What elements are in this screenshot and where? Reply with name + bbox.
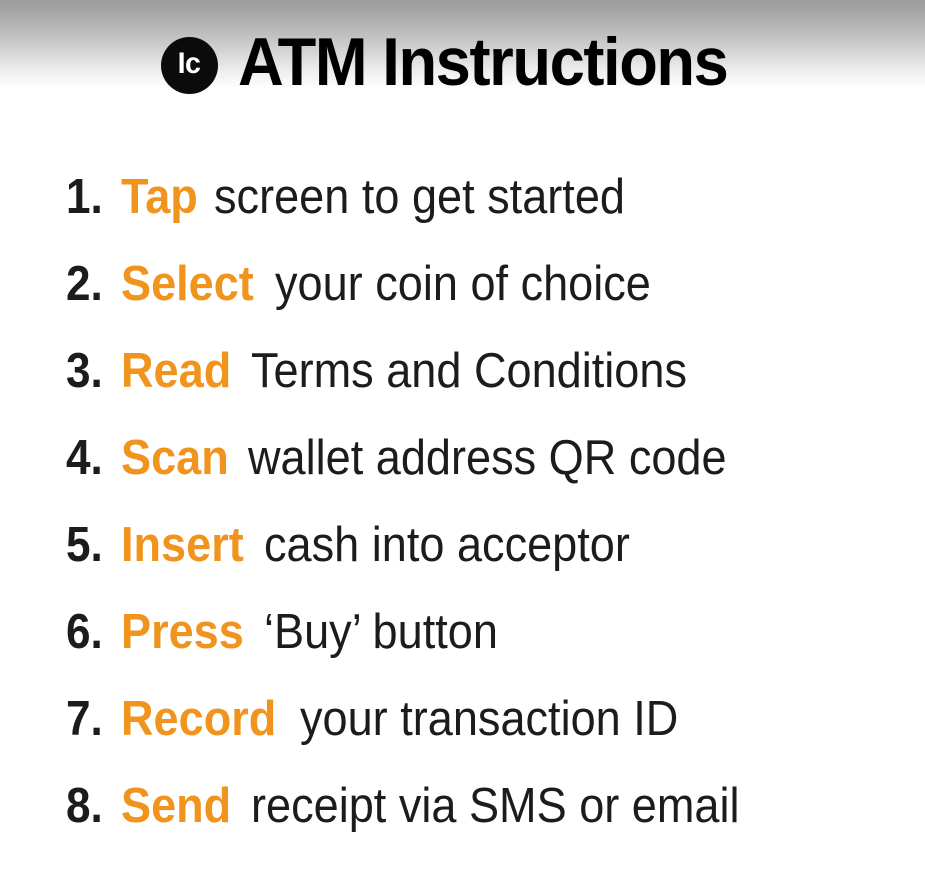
step-action: Send [121, 782, 231, 831]
step-number: 3. [66, 347, 103, 396]
step-number: 5. [66, 521, 103, 570]
list-item: 4. Scan wallet address QR code [66, 415, 906, 502]
ic-circle-logo-icon: Ic [161, 37, 218, 94]
list-item: 8. Send receipt via SMS or email [66, 763, 906, 850]
step-number: 7. [66, 695, 103, 744]
header-inner: Ic ATM Instructions [161, 0, 764, 142]
step-text: ‘Buy’ button [264, 608, 498, 657]
list-item: 5. Insert cash into acceptor [66, 502, 906, 589]
list-item: 6. Press ‘Buy’ button [66, 589, 906, 676]
step-action: Select [121, 260, 254, 309]
list-item: 7. Record your transaction ID [66, 676, 906, 763]
step-action: Press [121, 608, 244, 657]
step-number: 4. [66, 434, 103, 483]
page-title: ATM Instructions [238, 28, 727, 96]
step-text: wallet address QR code [248, 434, 727, 483]
step-action: Tap [121, 173, 198, 222]
step-number: 6. [66, 608, 103, 657]
step-action: Record [121, 695, 276, 744]
instructions-list: 1. Tap screen to get started 2. Select y… [66, 154, 906, 850]
step-text: screen to get started [214, 173, 625, 222]
step-number: 1. [66, 173, 103, 222]
list-item: 1. Tap screen to get started [66, 154, 906, 241]
step-text: your coin of choice [275, 260, 651, 309]
step-text: cash into acceptor [264, 521, 630, 570]
step-action: Read [121, 347, 231, 396]
list-item: 3. Read Terms and Conditions [66, 328, 906, 415]
step-action: Insert [121, 521, 244, 570]
step-text: your transaction ID [300, 695, 678, 744]
step-number: 8. [66, 782, 103, 831]
list-item: 2. Select your coin of choice [66, 241, 906, 328]
page-header: Ic ATM Instructions [0, 0, 925, 120]
step-number: 2. [66, 260, 103, 309]
step-text: receipt via SMS or email [251, 782, 740, 831]
step-text: Terms and Conditions [251, 347, 687, 396]
logo-label: Ic [178, 49, 201, 79]
step-action: Scan [121, 434, 229, 483]
